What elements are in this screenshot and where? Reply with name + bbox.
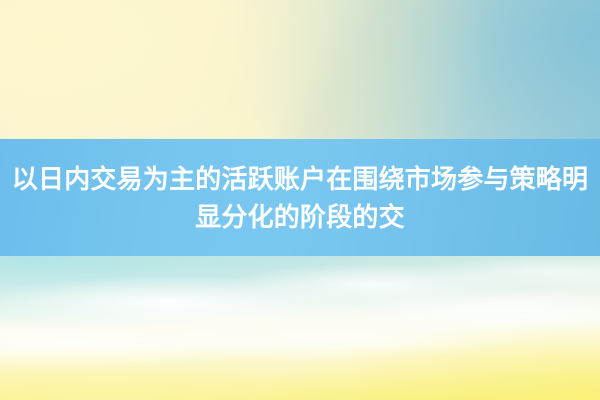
banner-image: 以日内交易为主的活跃账户在围绕市场参与策略明显分化的阶段的交	[0, 0, 600, 400]
background-cloud-layer	[0, 252, 600, 400]
headline-title: 以日内交易为主的活跃账户在围绕市场参与策略明显分化的阶段的交	[0, 160, 600, 236]
background-bottom-yellow-wash	[0, 250, 600, 400]
headline-band: 以日内交易为主的活跃账户在围绕市场参与策略明显分化的阶段的交	[0, 139, 600, 256]
background-bottom-sky	[0, 248, 600, 400]
background-bottom-cyan-wash	[0, 250, 600, 400]
